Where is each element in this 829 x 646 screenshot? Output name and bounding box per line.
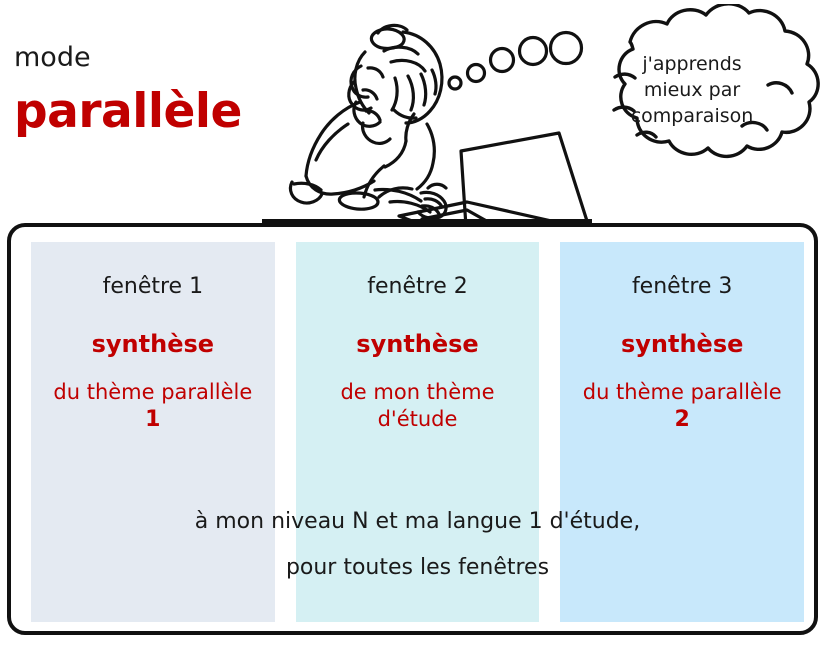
window-panel-3-number: 2 — [560, 406, 804, 433]
window-panel-3-synthese: synthèse — [560, 330, 804, 359]
mode-title: parallèle — [14, 88, 242, 135]
window-panel-3[interactable]: fenêtre 3 synthèse du thème parallèle 2 — [560, 242, 804, 622]
window-panel-2-description-line1: de mon thème — [296, 379, 540, 406]
window-panel-2-title: fenêtre 2 — [296, 274, 540, 300]
window-panel-3-description: du thème parallèle — [560, 379, 804, 406]
panels-row: fenêtre 1 synthèse du thème parallèle 1 … — [31, 242, 804, 622]
window-panel-1-title: fenêtre 1 — [31, 274, 275, 300]
window-panel-3-title: fenêtre 3 — [560, 274, 804, 300]
header: mode parallèle — [0, 0, 829, 224]
window-panel-1[interactable]: fenêtre 1 synthèse du thème parallèle 1 — [31, 242, 275, 622]
window-panel-2-synthese: synthèse — [296, 330, 540, 359]
window-panel-2[interactable]: fenêtre 2 synthèse de mon thème d'étude — [296, 242, 540, 622]
window-panel-1-number: 1 — [31, 406, 275, 433]
window-panel-2-description-line2: d'étude — [296, 406, 540, 433]
thought-bubble: j'apprends mieux par comparaison — [558, 4, 826, 170]
window-panel-1-synthese: synthèse — [31, 330, 275, 359]
windows-container: fenêtre 1 synthèse du thème parallèle 1 … — [7, 223, 818, 635]
mode-label: mode — [14, 44, 91, 71]
window-panel-1-description: du thème parallèle — [31, 379, 275, 406]
